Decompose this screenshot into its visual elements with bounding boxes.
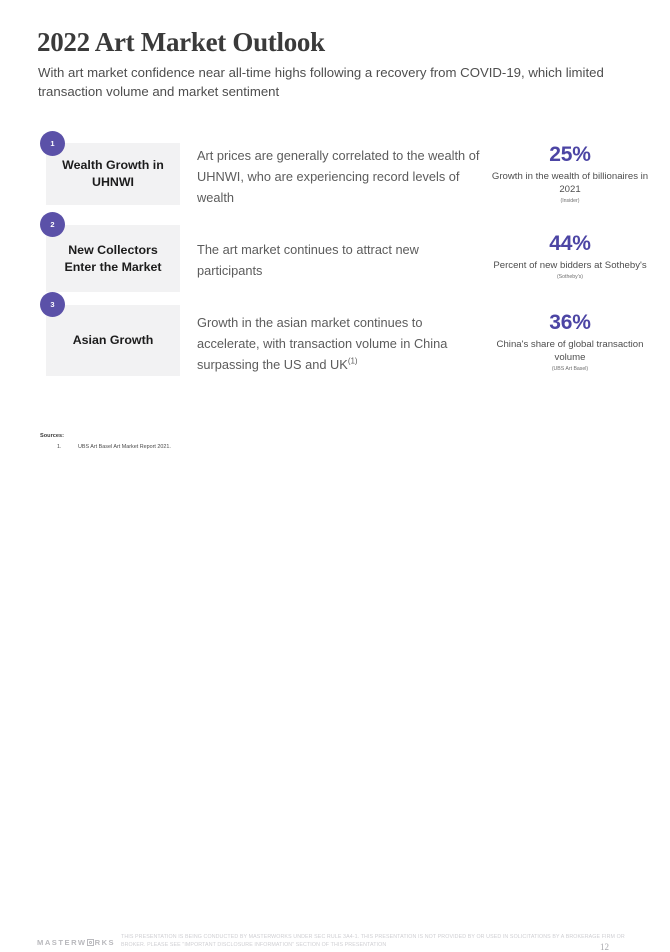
stat-value: 25% — [490, 142, 650, 167]
stat-value: 36% — [490, 310, 650, 335]
page-number: 12 — [600, 942, 609, 952]
row-body: Growth in the asian market continues to … — [197, 312, 487, 375]
row-label-box: Asian Growth — [46, 305, 180, 376]
sources-item-number: 1. — [40, 443, 78, 451]
stat-description: Growth in the wealth of billionaires in … — [490, 170, 650, 196]
logo-text-prefix: MASTERW — [37, 938, 87, 947]
row-body-text: Art prices are generally correlated to t… — [197, 148, 479, 205]
sources-block: Sources: 1. UBS Art Basel Art Market Rep… — [40, 432, 171, 451]
slide: 2022 Art Market Outlook With art market … — [0, 0, 670, 502]
slide-footer: MASTERW RKS THIS PRESENTATION IS BEING C… — [0, 466, 670, 502]
row-body: The art market continues to attract new … — [197, 239, 487, 281]
row-body: Art prices are generally correlated to t… — [197, 145, 487, 208]
row-body-text: The art market continues to attract new … — [197, 242, 419, 278]
logo-boxed-o-icon — [87, 939, 94, 946]
insight-row: 3 Asian Growth Growth in the asian marke… — [0, 305, 670, 376]
row-stat: 36% China's share of global transaction … — [490, 310, 650, 373]
row-label: Asian Growth — [73, 332, 154, 349]
stat-description: Percent of new bidders at Sotheby's — [490, 259, 650, 272]
sources-heading: Sources: — [40, 432, 171, 440]
sources-item: 1. UBS Art Basel Art Market Report 2021. — [40, 443, 171, 451]
row-number-badge: 2 — [40, 212, 65, 237]
row-label-box: New Collectors Enter the Market — [46, 225, 180, 292]
row-number-badge: 3 — [40, 292, 65, 317]
stat-value: 44% — [490, 231, 650, 256]
masterworks-logo: MASTERW RKS — [37, 938, 115, 947]
row-footnote-marker: (1) — [348, 357, 358, 366]
legal-disclaimer: THIS PRESENTATION IS BEING CONDUCTED BY … — [121, 934, 641, 949]
row-stat: 25% Growth in the wealth of billionaires… — [490, 142, 650, 205]
stat-source: (Insider) — [490, 197, 650, 205]
row-body-text: Growth in the asian market continues to … — [197, 315, 447, 372]
stat-source: (Sotheby's) — [490, 273, 650, 281]
insight-row: 1 Wealth Growth in UHNWI Art prices are … — [0, 143, 670, 205]
stat-description: China's share of global transaction volu… — [490, 338, 650, 364]
row-number-badge: 1 — [40, 131, 65, 156]
row-label-box: Wealth Growth in UHNWI — [46, 143, 180, 205]
page-title: 2022 Art Market Outlook — [37, 27, 325, 57]
row-stat: 44% Percent of new bidders at Sotheby's … — [490, 231, 650, 281]
stat-source: (UBS Art Basel) — [490, 365, 650, 373]
logo-text-suffix: RKS — [95, 938, 116, 947]
sources-item-text: UBS Art Basel Art Market Report 2021. — [78, 443, 171, 451]
insight-row: 2 New Collectors Enter the Market The ar… — [0, 225, 670, 292]
page-subtitle: With art market confidence near all-time… — [38, 63, 634, 101]
row-label: Wealth Growth in UHNWI — [56, 157, 170, 191]
row-label: New Collectors Enter the Market — [56, 242, 170, 276]
